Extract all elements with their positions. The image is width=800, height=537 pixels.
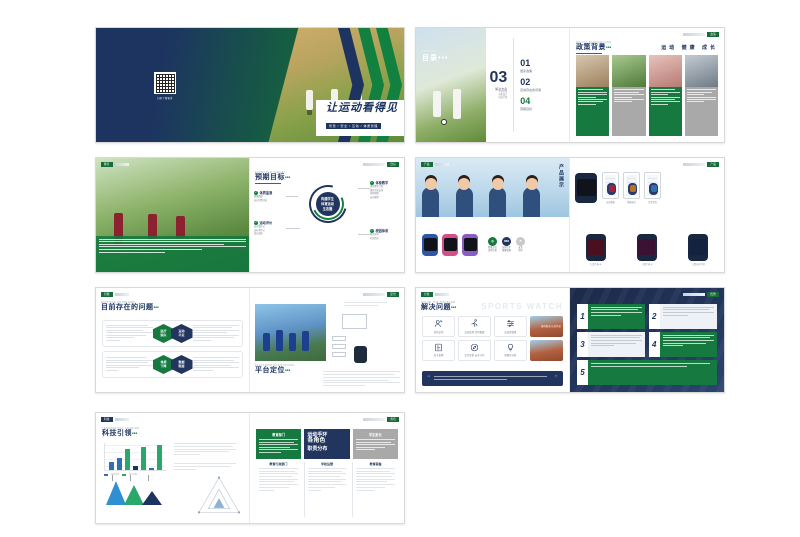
solution-item-card[interactable]: 电子班牌 bbox=[422, 340, 455, 361]
bar bbox=[157, 445, 162, 470]
panel-cover-and-toc: 扫码了解更多 让运动看得见 智慧 / 安全 / 互动 / 体质管理 bbox=[95, 27, 405, 143]
slide-tag-problems: 问题 bbox=[101, 292, 129, 297]
solution-item-bulb[interactable]: 智能化分析 bbox=[494, 340, 527, 361]
product-feature: ⚑ 安全 防护 bbox=[516, 237, 525, 253]
problem-hex-navy: 运动 不足 bbox=[171, 324, 193, 343]
panel-tech-and-roles: 科技 TECHNOLOGY LEADING 科技引领••• bbox=[95, 412, 405, 524]
slide-tag-goals: 目标 bbox=[363, 162, 399, 167]
bar bbox=[117, 458, 122, 470]
solution-item-user[interactable]: 身份识别 bbox=[422, 316, 455, 337]
solution-item-sliders[interactable]: 运动量管理 bbox=[494, 316, 527, 337]
slide-deck-overview: 扫码了解更多 让运动看得见 智慧 / 安全 / 互动 / 体质管理 CATALO… bbox=[0, 0, 800, 537]
panel-toc-and-policy: CATALOG 目录••• 03 解决方案 平台定位 功能设计 科技引领 01 … bbox=[415, 27, 725, 143]
toc-item-01-num[interactable]: 01 bbox=[520, 59, 541, 68]
bar-chart-legend: 运动时长 参与人数 bbox=[104, 473, 137, 476]
solutions-quote: “ ” bbox=[422, 371, 563, 386]
watch-hero bbox=[575, 173, 597, 203]
goal-node-4: ✓ 校园体育 阳光体育社团活动 bbox=[370, 228, 400, 241]
slide-cover: 扫码了解更多 让运动看得见 智慧 / 安全 / 互动 / 体质管理 bbox=[96, 28, 404, 142]
app-caption: 健康报告 bbox=[623, 200, 640, 204]
slide-product-kids: 产品展示 ◎ 精准定位 实时位置 888 运动计步 健康管理 ⚑ 安全 防护 产… bbox=[416, 158, 570, 272]
advantages-grid: 1 2 3 4 5 bbox=[577, 304, 717, 385]
goals-ring-diagram: 构建学生 体育运动 生态圈 bbox=[309, 185, 347, 223]
slide-tag-tech: 科技 bbox=[101, 417, 129, 422]
toc-list: 03 解决方案 平台定位 功能设计 科技引领 01 国家政策 02 目前存在的问… bbox=[489, 28, 565, 142]
check-icon: ✓ bbox=[370, 181, 374, 185]
solutions-title-cn: 解决问题••• bbox=[421, 304, 456, 311]
solutions-watermark: SPORTS WATCH bbox=[481, 302, 563, 311]
solution-item-compass[interactable]: 定位导航 安全守护 bbox=[458, 340, 491, 361]
toc-divider bbox=[513, 38, 514, 132]
advantage-card[interactable]: 4 bbox=[649, 332, 717, 357]
platform-heading: PLATFORM POSITIONING 平台定位••• bbox=[255, 364, 295, 374]
role-col-equipment[interactable]: 教育装备 bbox=[352, 462, 398, 517]
slide-policy-background: 政策 POLICY BACKGROUND 政策背景••• 运动 健康 成长 bbox=[570, 28, 724, 142]
product-feature: 888 运动计步 健康管理 bbox=[502, 237, 511, 253]
tech-title-cn: 科技引领••• bbox=[102, 430, 139, 437]
goals-title-cn: 预期目标••• bbox=[255, 174, 290, 181]
policy-card-list bbox=[576, 55, 718, 136]
problems-rows: 医疗 缺失 运动 不足 体质 下降 数据 断层 bbox=[102, 320, 243, 382]
slide-tag-roles: 角色 bbox=[363, 417, 399, 422]
bar bbox=[141, 447, 146, 470]
area-peak bbox=[142, 491, 162, 505]
advantage-card[interactable]: 1 bbox=[577, 304, 645, 329]
role-box-parents[interactable]: 学生家长 bbox=[353, 429, 398, 459]
app-screen[interactable] bbox=[644, 172, 661, 199]
problem-hex-navy: 数据 断层 bbox=[171, 355, 193, 374]
tech-radar-chart bbox=[196, 475, 242, 515]
tech-body-1 bbox=[174, 443, 236, 457]
slide-advantages: 优势 1 2 3 4 5 bbox=[570, 288, 724, 392]
slide-tag-advantages: 优势 bbox=[683, 292, 719, 297]
platform-photo bbox=[255, 304, 326, 361]
sports-edu-photo bbox=[96, 158, 249, 272]
area-peak bbox=[106, 481, 126, 505]
solution-item-running[interactable]: 运动监测 实时数据 bbox=[458, 316, 491, 337]
watch-caption: 儿童手表 A bbox=[586, 262, 606, 266]
goal-label: 校园体育 bbox=[376, 228, 389, 233]
toc-item-02-label: 目前存在的问题 bbox=[520, 88, 541, 92]
bulb-icon bbox=[506, 343, 515, 352]
tech-body-2 bbox=[174, 463, 236, 471]
bar bbox=[125, 449, 130, 470]
slide-tag-policy: 政策 bbox=[683, 32, 719, 37]
panel-problems-and-platform: 问题 EXISTING PROBLEMS 目前存在的问题••• 医疗 缺失 运动… bbox=[95, 287, 405, 393]
tech-heading: TECHNOLOGY LEADING 科技引领••• bbox=[102, 427, 139, 437]
compass-icon bbox=[470, 343, 479, 352]
goals-heading: EXPECTED TARGET 预期目标••• bbox=[255, 171, 290, 184]
role-big-heading-2: 各角色 bbox=[307, 438, 346, 446]
policy-card bbox=[649, 55, 682, 136]
role-col-heading: 教育行政部门 bbox=[259, 462, 298, 466]
platform-body-text bbox=[323, 371, 400, 388]
policy-underline bbox=[576, 53, 602, 55]
watch-variant[interactable] bbox=[637, 234, 657, 261]
slide-product-apps: 产品 运动数据 健康报告 位置查询 bbox=[570, 158, 724, 272]
solutions-icon-grid: 身份识别 运动监测 实时数据 运动量管理 操场跑道 运动场景 电子班牌 定位导航… bbox=[422, 316, 563, 361]
sliders-icon bbox=[506, 319, 515, 328]
platform-card-a bbox=[332, 336, 346, 341]
platform-watch bbox=[354, 346, 367, 363]
slide-toc: CATALOG 目录••• 03 解决方案 平台定位 功能设计 科技引领 01 … bbox=[416, 28, 570, 142]
panel-edu-and-goals: 教育 目标 EXPECTED TARGET 预期目标••• 构建学生 体育运动 … bbox=[95, 157, 405, 273]
product-title: 产品展示 bbox=[558, 164, 565, 188]
role-col-admin[interactable]: 教育行政部门 bbox=[256, 462, 301, 517]
running-icon bbox=[470, 319, 479, 328]
slide-tag-product: 产品 bbox=[421, 162, 449, 167]
policy-card bbox=[685, 55, 718, 136]
goal-label: 体质监测 bbox=[260, 190, 273, 195]
product-feature: ◎ 精准定位 实时位置 bbox=[488, 237, 497, 253]
advantage-number: 1 bbox=[577, 304, 588, 329]
slide-solutions: 方案 SOLVE THE PROBLEM 解决问题••• SPORTS WATC… bbox=[416, 288, 570, 392]
role-heading: 学生家长 bbox=[356, 432, 395, 437]
policy-heading: POLICY BACKGROUND 政策背景••• bbox=[576, 41, 612, 54]
legend-swatch bbox=[122, 474, 126, 476]
slide-tag-edu: 教育 bbox=[101, 162, 129, 167]
area-peak bbox=[124, 485, 144, 505]
slide-expected-goals: 目标 EXPECTED TARGET 预期目标••• 构建学生 体育运动 生态圈… bbox=[250, 158, 404, 272]
app-screen[interactable] bbox=[602, 172, 619, 199]
cover-title-block: 让运动看得见 智慧 / 安全 / 互动 / 体质管理 bbox=[316, 100, 404, 136]
watch-caption: 儿童运动手环 bbox=[688, 262, 708, 266]
triangle-icon bbox=[196, 475, 242, 515]
advantage-card[interactable]: 3 bbox=[577, 332, 645, 357]
toc-caption: CATALOG 目录••• bbox=[422, 50, 448, 63]
policy-card bbox=[612, 55, 645, 136]
role-heading: 教育部门 bbox=[259, 432, 298, 437]
toc-item-04-num[interactable]: 04 bbox=[520, 97, 541, 106]
solution-item-track-photo-2[interactable] bbox=[530, 340, 563, 361]
cover-subtitle: 智慧 / 安全 / 互动 / 体质管理 bbox=[326, 123, 381, 129]
qr-caption: 扫码了解更多 bbox=[151, 96, 179, 100]
toc-item-03-num[interactable]: 03 bbox=[489, 70, 507, 86]
sports-edu-caption bbox=[96, 236, 249, 272]
watch-product[interactable] bbox=[422, 234, 438, 256]
slide-problems: 问题 EXISTING PROBLEMS 目前存在的问题••• 医疗 缺失 运动… bbox=[96, 288, 250, 392]
slide-tag-platform: 定位 bbox=[363, 292, 399, 297]
ring-center-label: 构建学生 体育运动 生态圈 bbox=[316, 192, 340, 216]
bar-chart-plot bbox=[104, 443, 166, 471]
product-watch-row: ◎ 精准定位 实时位置 888 运动计步 健康管理 ⚑ 安全 防护 bbox=[416, 217, 569, 272]
app-screen[interactable] bbox=[623, 172, 640, 199]
slide-tech: 科技 TECHNOLOGY LEADING 科技引领••• bbox=[96, 413, 250, 523]
slide-sports-edu: 教育 bbox=[96, 158, 250, 272]
advantage-card[interactable]: 2 bbox=[649, 304, 717, 329]
legend-swatch bbox=[104, 474, 108, 476]
advantage-number: 5 bbox=[577, 360, 588, 385]
advantage-card[interactable]: 5 bbox=[577, 360, 717, 385]
toc-photo bbox=[416, 28, 486, 142]
watch-variant[interactable] bbox=[688, 234, 708, 261]
panel-solutions-and-advantages: 方案 SOLVE THE PROBLEM 解决问题••• SPORTS WATC… bbox=[415, 287, 725, 393]
app-caption: 位置查询 bbox=[644, 200, 661, 204]
role-box-education[interactable]: 教育部门 bbox=[256, 429, 301, 459]
quote-close-icon: ” bbox=[555, 375, 559, 382]
advantage-number: 3 bbox=[577, 332, 588, 357]
steps-icon: 888 bbox=[502, 237, 511, 246]
check-icon: ✓ bbox=[254, 191, 258, 195]
role-col-school[interactable]: 学校运营 bbox=[304, 462, 350, 517]
watch-product[interactable] bbox=[462, 234, 478, 256]
problem-row[interactable]: 医疗 缺失 运动 不足 bbox=[102, 320, 243, 347]
goal-node-2: ✓ 运动评价 运动量评价达标率评价成长曲线 bbox=[254, 220, 284, 237]
solution-item-track-photo[interactable]: 操场跑道 运动场景 bbox=[530, 316, 563, 337]
platform-title-cn: 平台定位••• bbox=[255, 367, 295, 374]
platform-diagram bbox=[332, 302, 400, 377]
qr-code[interactable] bbox=[154, 72, 176, 94]
card-icon bbox=[434, 343, 443, 352]
role-col-heading: 教育装备 bbox=[356, 462, 395, 466]
platform-card-screen bbox=[342, 314, 368, 329]
check-icon: ✓ bbox=[370, 229, 374, 233]
goal-label: 体育教学 bbox=[376, 180, 389, 185]
roles-top-row: 教育部门 运动手环 各角色 职责分布 学生家长 bbox=[256, 429, 398, 459]
toc-item-04-label: 预期目标 bbox=[520, 107, 541, 111]
toc-item-01-label: 国家政策 bbox=[520, 69, 541, 73]
solutions-heading: SOLVE THE PROBLEM 解决问题••• bbox=[421, 301, 456, 311]
platform-diagram-caption bbox=[344, 302, 391, 308]
shield-icon: ⚑ bbox=[516, 237, 525, 246]
goal-node-3: ✓ 体育教学 课堂教学计划课外活动安排体测管理运动课程 bbox=[370, 180, 400, 200]
goal-label: 运动评价 bbox=[260, 220, 273, 225]
slide-platform: 定位 PLATFORM POSITIONING 平台定位••• bbox=[250, 288, 404, 392]
quote-open-icon: “ bbox=[427, 375, 431, 382]
watch-product[interactable] bbox=[442, 234, 458, 256]
watch-variant[interactable] bbox=[586, 234, 606, 261]
bar bbox=[109, 462, 114, 470]
problem-row[interactable]: 体质 下降 数据 断层 bbox=[102, 351, 243, 378]
platform-card-c bbox=[332, 352, 346, 357]
platform-card-b bbox=[332, 344, 346, 349]
bar bbox=[133, 466, 138, 470]
problems-heading: EXISTING PROBLEMS 目前存在的问题••• bbox=[101, 301, 159, 311]
check-icon: ✓ bbox=[254, 221, 258, 225]
location-icon: ◎ bbox=[488, 237, 497, 246]
app-caption: 运动数据 bbox=[602, 200, 619, 204]
slide-tag-product-2: 产品 bbox=[683, 162, 719, 167]
goal-node-1: ✓ 体质监测 健康数据运动习惯分析 bbox=[254, 190, 284, 203]
role-box-title: 运动手环 各角色 职责分布 bbox=[304, 429, 349, 459]
slide-roles: 角色 教育部门 运动手环 各角色 职责分布 学生家长 bbox=[250, 413, 404, 523]
slide-tag-solutions: 方案 bbox=[421, 292, 449, 297]
tech-area-chart bbox=[104, 479, 166, 505]
cover-title: 让运动看得见 bbox=[326, 103, 398, 114]
roles-bottom-row: 教育行政部门 学校运营 教育装备 bbox=[256, 462, 398, 517]
role-big-heading-3: 职责分布 bbox=[307, 446, 346, 452]
role-col-heading: 学校运营 bbox=[308, 462, 347, 466]
bar bbox=[149, 468, 154, 470]
problems-title-cn: 目前存在的问题••• bbox=[101, 304, 159, 311]
toc-item-02-num[interactable]: 02 bbox=[520, 78, 541, 87]
panel-product: 产品展示 ◎ 精准定位 实时位置 888 运动计步 健康管理 ⚑ 安全 防护 产… bbox=[415, 157, 725, 273]
policy-keywords: 运动 健康 成长 bbox=[661, 44, 718, 51]
advantage-number: 2 bbox=[649, 304, 660, 329]
policy-card bbox=[576, 55, 609, 136]
toc-title-cn: 目录••• bbox=[422, 53, 448, 63]
policy-title-cn: 政策背景••• bbox=[576, 44, 612, 51]
user-icon bbox=[434, 319, 443, 328]
advantage-number: 4 bbox=[649, 332, 660, 357]
toc-item-03-sub: 平台定位 功能设计 科技引领 bbox=[489, 91, 507, 101]
watch-caption: 儿童手表 B bbox=[637, 262, 657, 266]
